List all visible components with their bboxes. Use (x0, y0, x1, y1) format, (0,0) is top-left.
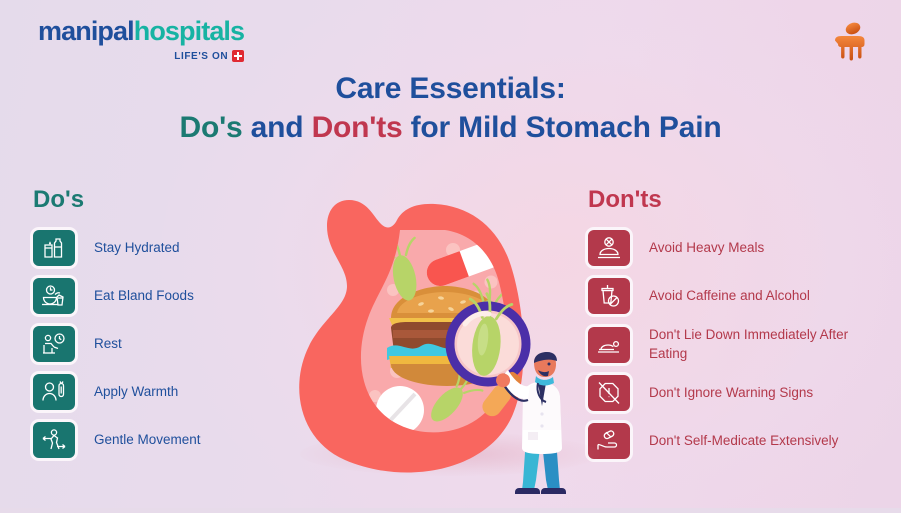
list-item[interactable]: Rest (33, 326, 293, 362)
list-item[interactable]: Don't Self-Medicate Extensively (588, 423, 888, 459)
logo-word-manipal: manipal (38, 16, 134, 46)
title-line-1: Care Essentials: (0, 72, 901, 107)
list-item-label: Don't Self-Medicate Extensively (649, 432, 838, 451)
dos-heading: Do's (33, 186, 293, 214)
list-item[interactable]: Avoid Caffeine and Alcohol (588, 278, 888, 314)
logo-word-hospitals: hospitals (134, 16, 244, 46)
donts-heading: Don'ts (588, 186, 888, 214)
list-item-label: Avoid Caffeine and Alcohol (649, 287, 810, 306)
list-item[interactable]: Apply Warmth (33, 374, 293, 410)
list-item[interactable]: Eat Bland Foods (33, 278, 293, 314)
list-item-label: Apply Warmth (94, 383, 178, 402)
list-item[interactable]: Avoid Heavy Meals (588, 230, 888, 266)
page-title: Care Essentials: Do's and Don'ts for Mil… (0, 72, 901, 146)
logo-tagline-text: LIFE'S ON (174, 51, 228, 62)
title-line-2: Do's and Don'ts for Mild Stomach Pain (0, 111, 901, 146)
logo-wordmark: manipalhospitals (38, 18, 244, 45)
red-cross-icon (232, 50, 244, 62)
logo-tagline: LIFE'S ON (38, 50, 244, 62)
bubble (485, 276, 498, 289)
title-rest: for Mild Stomach Pain (403, 111, 722, 144)
title-dos-word: Do's (180, 111, 243, 144)
water-bottle-icon (33, 230, 75, 266)
list-item-label: Don't Lie Down Immediately After Eating (649, 326, 888, 363)
list-item[interactable]: Don't Ignore Warning Signs (588, 375, 888, 411)
title-and-word: and (243, 111, 312, 144)
infographic-canvas: manipalhospitals LIFE'S ON Care Essentia… (0, 0, 901, 508)
list-item[interactable]: Stay Hydrated (33, 230, 293, 266)
list-item-label: Eat Bland Foods (94, 287, 194, 306)
list-item-label: Rest (94, 335, 122, 354)
list-item[interactable]: Don't Lie Down Immediately After Eating (588, 326, 888, 363)
title-donts-word: Don'ts (312, 111, 403, 144)
list-item-label: Don't Ignore Warning Signs (649, 384, 813, 403)
walking-person-icon (33, 422, 75, 458)
resting-person-clock-icon (33, 326, 75, 362)
doctor-with-magnifier (492, 352, 587, 500)
soup-bowl-icon (33, 278, 75, 314)
list-item-label: Stay Hydrated (94, 239, 180, 258)
list-item-label: Gentle Movement (94, 431, 201, 450)
stomach-organ-icon (827, 18, 873, 64)
donts-column: Don'ts Avoid Heavy Meals Avoid Caffeine … (588, 186, 888, 471)
list-item[interactable]: Gentle Movement (33, 422, 293, 458)
manipal-hospitals-logo: manipalhospitals LIFE'S ON (38, 18, 244, 62)
person-thermometer-icon (33, 374, 75, 410)
list-item-label: Avoid Heavy Meals (649, 239, 764, 258)
dos-column: Do's Stay Hydrated (33, 186, 293, 470)
